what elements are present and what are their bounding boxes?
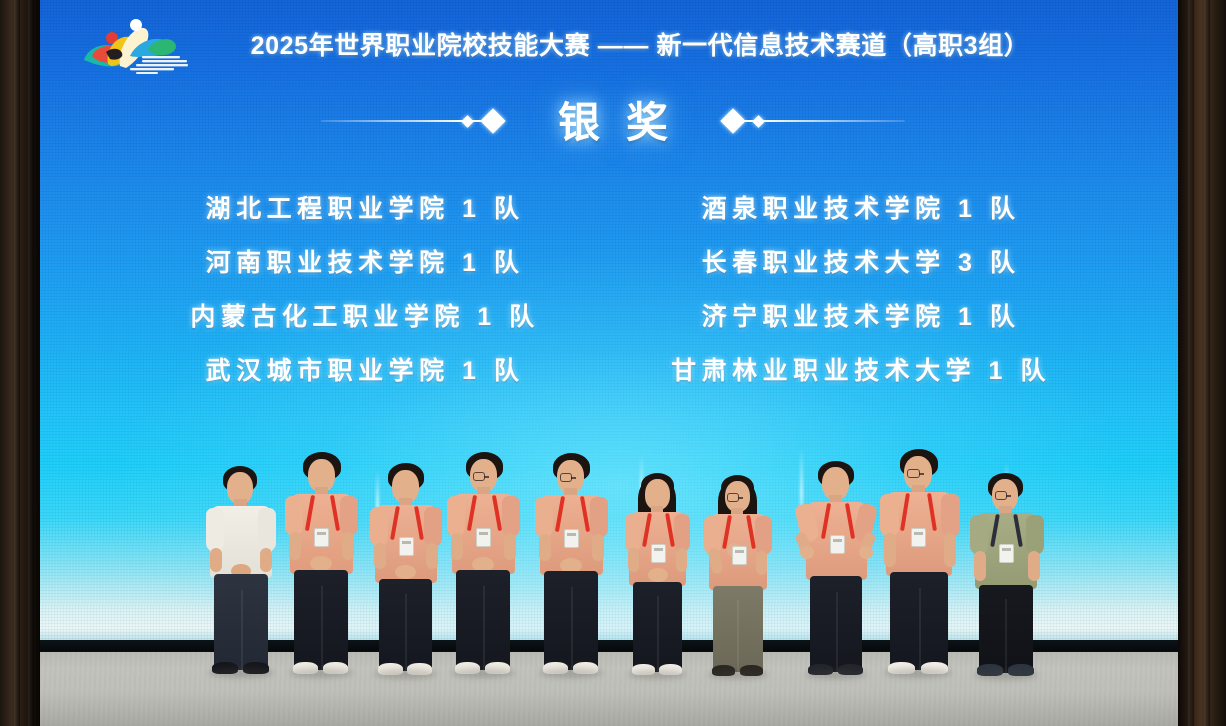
winner-entry: 酒泉职业技术学院 1 队: [646, 182, 1076, 236]
ict-competition-logo: [78, 16, 196, 78]
award-title: 银奖: [532, 89, 694, 154]
winner-entry: 河南职业技术学院 1 队: [150, 236, 580, 290]
winner-list: 湖北工程职业学院 1 队 酒泉职业技术学院 1 队 河南职业技术学院 1 队 长…: [150, 182, 1076, 398]
diamond-line-ornament-right-icon: [724, 112, 905, 130]
winner-entry: 济宁职业技术学院 1 队: [646, 290, 1076, 344]
winner-entry: 湖北工程职业学院 1 队: [150, 182, 580, 236]
diamond-line-ornament-left-icon: [321, 112, 502, 130]
winner-entry: 武汉城市职业学院 1 队: [150, 344, 580, 398]
award-heading-row: 银奖: [0, 86, 1226, 156]
stage-floor: [0, 652, 1226, 726]
winner-entry: 长春职业技术大学 3 队: [646, 236, 1076, 290]
winner-entry: 内蒙古化工职业学院 1 队: [150, 290, 580, 344]
event-title: 2025年世界职业院校技能大赛 —— 新一代信息技术赛道（高职3组）: [200, 26, 1080, 66]
award-ceremony-screenshot: 2025年世界职业院校技能大赛 —— 新一代信息技术赛道（高职3组） 银奖 湖北…: [0, 0, 1226, 726]
winner-entry: 甘肃林业职业技术大学 1 队: [646, 344, 1076, 398]
